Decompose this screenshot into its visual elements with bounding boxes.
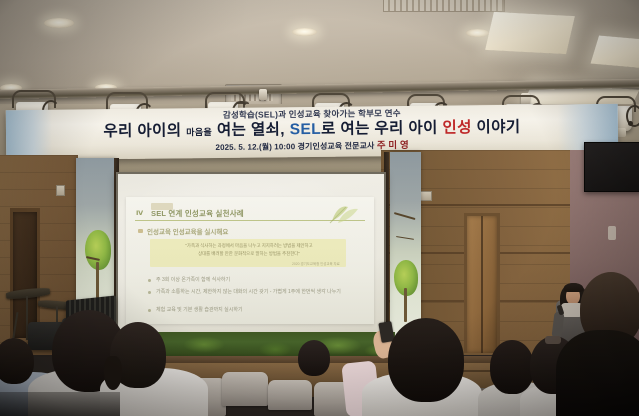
audience-shoulders	[556, 330, 639, 416]
wall-mounted-display	[584, 142, 639, 192]
ceiling-downlight-3	[466, 29, 489, 37]
banner-datetime: 2025. 5. 12.(월) 10:00 경기인성교육 전문교사	[215, 141, 376, 152]
slide-bullet-marker-2	[148, 291, 151, 294]
slide-leaf-decoration	[326, 203, 366, 225]
slide-title: SEL 연계 인성교육 실천사례	[151, 208, 244, 219]
wall-speaker-icon	[608, 226, 616, 240]
audience-head	[298, 340, 330, 376]
slide-bullet-marker-3	[148, 309, 151, 312]
truss-clamp-1	[259, 89, 267, 100]
banner-title-seg-5: 로 여는 우리 아이	[321, 120, 443, 138]
slide-bullet-3: 체험 교육 및 기본 생활 습관까지 실시하기	[156, 306, 243, 313]
audience-hair-clip	[545, 336, 561, 344]
chair[interactable]	[222, 372, 268, 406]
slide-bullet-2: 가족과 소통하는 시간, 제한하지 않는 대화의 시간 갖기 - 가볍게 1주에…	[156, 288, 341, 295]
ceiling-downlight-1	[44, 18, 74, 28]
ceiling-panel-light-1	[485, 12, 575, 54]
ceiling-vent	[383, 0, 505, 12]
slide-bullet-1: 주 3회 이상 온가족이 함께 식사하기	[156, 276, 230, 283]
right-mural-panel	[390, 152, 421, 344]
stage-light-knob	[628, 121, 633, 126]
mural-tree-branch-2	[396, 236, 414, 240]
slide-quote-source: 2020 경기도교육청 인성교육 자료	[292, 261, 340, 266]
audience-head	[388, 318, 464, 402]
mural-tree-trunk	[96, 262, 99, 298]
audience-ponytail	[104, 356, 122, 390]
mural-tree-branch	[394, 212, 416, 220]
slide-bullet-marker-1	[148, 279, 151, 282]
banner-title-keyword-character: 인성	[442, 119, 472, 136]
banner-title-seg-4: ,	[280, 121, 290, 138]
left-wall-sign	[56, 185, 65, 196]
banner-title-seg-1: 우리 아이의	[103, 122, 186, 140]
slide-subtitle: 인성교육 인성교육을 실시해요	[147, 226, 228, 236]
ceiling-panel-light-2	[590, 35, 639, 68]
slide-quote-line-2: 상대를 배려할 만한 문화적으로 말하는 방법을 추천한다"	[154, 251, 344, 257]
projection-screen: Ⅳ SEL 연계 인성교육 실천사례 인성교육 인성교육을 실시해요 "가족과 …	[118, 174, 384, 343]
audience-head	[490, 340, 534, 394]
banner-title-seg-3: 여는	[212, 122, 251, 139]
chair[interactable]	[268, 380, 312, 410]
mural-tree-trunk	[404, 288, 407, 322]
slide-quote-line-1: "가족과 식사하는 과정에서 마음을 나누고 지지하려는 방법을 제안하고	[154, 243, 344, 249]
ceiling-downlight-2	[292, 28, 317, 36]
presenter-fringe	[564, 283, 583, 292]
photo-canvas: 감성학습(SEL)과 인성교육 찾아가는 학부모 연수 우리 아이의 마음을 여…	[0, 0, 639, 416]
slide-section-number: Ⅳ	[136, 209, 143, 217]
banner-title-keyword-key: 열쇠	[251, 121, 281, 138]
banner-title-seg-6: 이야기	[472, 119, 521, 137]
slide-subtitle-icon	[138, 229, 143, 233]
right-door-seam	[481, 216, 483, 353]
foreground-shadow	[0, 392, 120, 416]
banner-title-keyword-sel: SEL	[290, 121, 322, 138]
audience-head	[0, 338, 34, 384]
projected-slide: Ⅳ SEL 연계 인성교육 실천사례 인성교육 인성교육을 실시해요 "가족과 …	[126, 197, 374, 324]
banner-title-seg-2: 마음을	[186, 127, 212, 137]
